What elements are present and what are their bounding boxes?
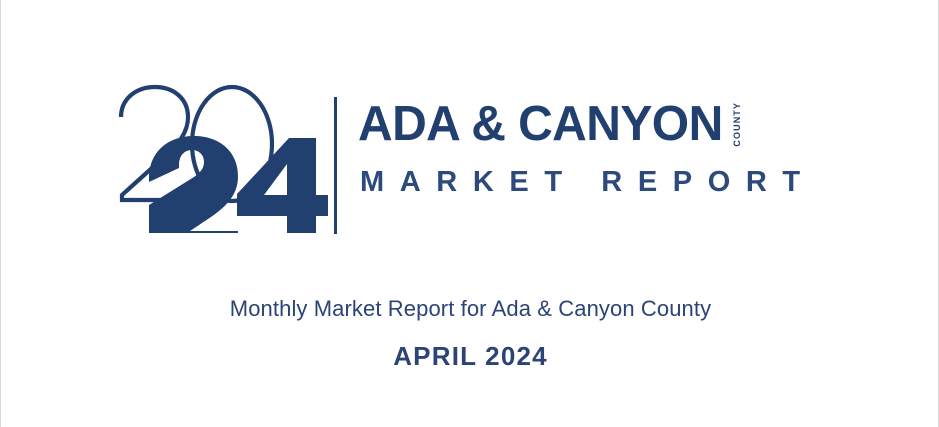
wordmark-county-superscript: COUNTY [733, 102, 742, 147]
report-cover-page: ADA & CANYON COUNTY MARKET REPORT Monthl… [0, 0, 939, 427]
wordmark-primary-text: ADA & CANYON [358, 100, 723, 149]
year-solid-24 [149, 136, 328, 233]
year-2024-logomark [113, 82, 328, 237]
report-subtitle: Monthly Market Report for Ada & Canyon C… [1, 296, 939, 322]
report-period: APRIL 2024 [1, 342, 939, 370]
logo-divider [334, 97, 337, 234]
brand-logo-lockup: ADA & CANYON COUNTY MARKET REPORT [113, 82, 833, 237]
caption-block: Monthly Market Report for Ada & Canyon C… [1, 296, 939, 370]
year-2024-logomark-svg [113, 82, 328, 237]
wordmark-primary-row: ADA & CANYON COUNTY [358, 100, 742, 149]
brand-wordmark: ADA & CANYON COUNTY MARKET REPORT [358, 82, 833, 237]
wordmark-secondary-text: MARKET REPORT [360, 168, 816, 197]
